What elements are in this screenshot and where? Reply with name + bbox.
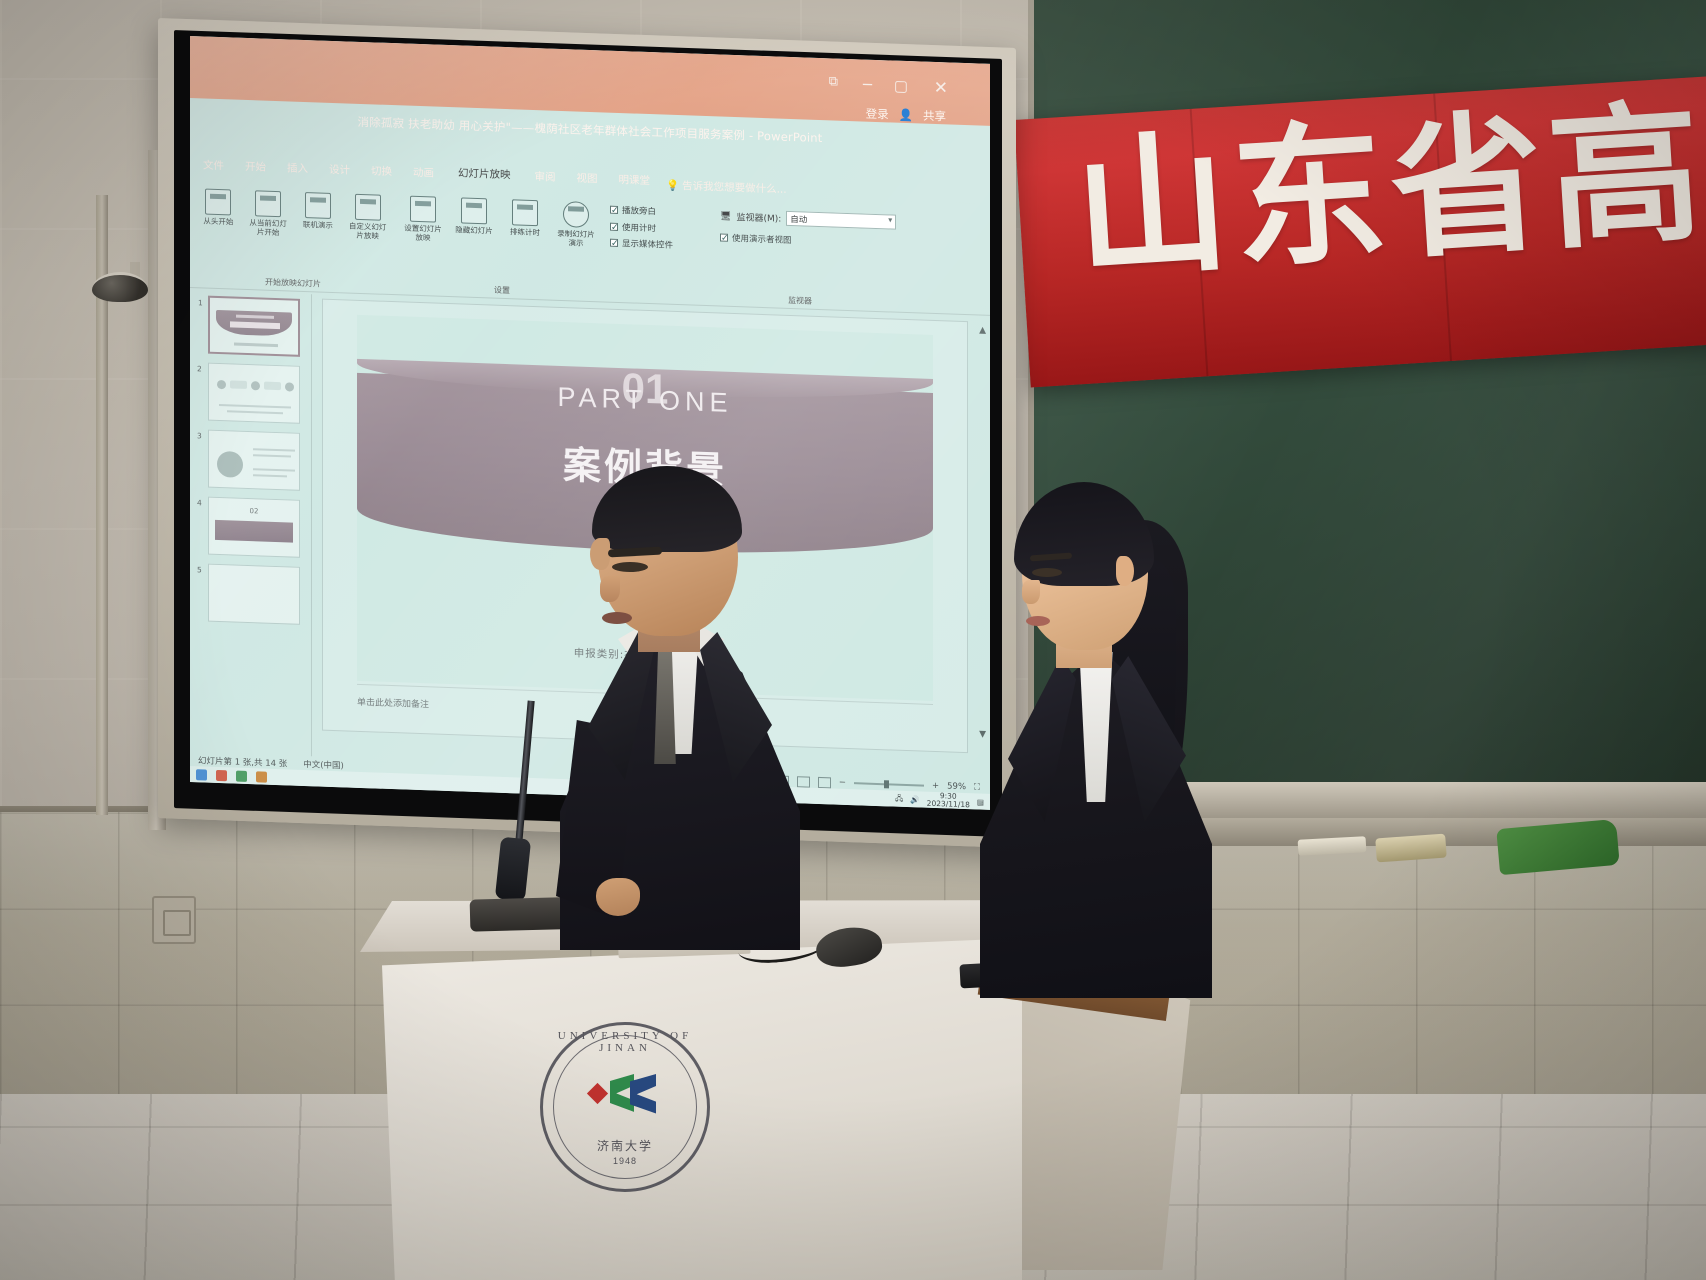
restore-icon[interactable]: ⧉ bbox=[829, 74, 838, 89]
fit-to-window-icon[interactable]: ⛶ bbox=[974, 782, 980, 792]
checkbox-icon bbox=[610, 239, 618, 247]
logo-text-chinese: 济南大学 bbox=[540, 1137, 710, 1154]
tab-file[interactable]: 文件 bbox=[198, 154, 229, 177]
female-eye bbox=[1032, 568, 1062, 577]
signin-label[interactable]: 登录 bbox=[866, 106, 889, 123]
projector-screen[interactable]: ⧉ ─ ▢ ✕ 登录 👤 共享 消除孤寂 扶老助幼 用心关护"——槐荫社区老年群… bbox=[190, 36, 990, 810]
male-eye bbox=[612, 562, 648, 572]
present-online-button[interactable]: 联机演示 bbox=[298, 192, 339, 240]
play-from-current-icon bbox=[255, 190, 281, 217]
thumbnail-number: 1 bbox=[198, 298, 203, 307]
thumbnail-slide-3[interactable]: 3 bbox=[208, 430, 300, 491]
ribbon-group-start-show: 从头开始 从当前幻灯片开始 联机演示 自定义幻灯片放映 bbox=[198, 182, 388, 293]
thumbnail-slide-2[interactable]: 2 bbox=[208, 363, 300, 424]
close-icon[interactable]: ✕ bbox=[934, 78, 948, 98]
checkbox-presenter-view[interactable]: 使用演示者视图 bbox=[720, 231, 930, 255]
minimize-icon[interactable]: ─ bbox=[863, 76, 872, 94]
ribbon-group-title-setup: 设置 bbox=[402, 281, 602, 299]
record-slideshow-icon bbox=[563, 201, 589, 228]
scroll-up-icon[interactable]: ▲ bbox=[979, 326, 986, 336]
share-label[interactable]: 共享 bbox=[923, 108, 946, 125]
ribbon-group-monitors: 🖥 监视器(M): 自动 使用演示者视图 监视器 bbox=[720, 201, 930, 312]
volume-icon[interactable]: 🔊 bbox=[910, 795, 919, 804]
tab-insert[interactable]: 插入 bbox=[282, 157, 313, 180]
checkbox-icon bbox=[720, 234, 728, 242]
banner-text: 山东省高校 bbox=[1071, 91, 1706, 292]
play-from-current-button[interactable]: 从当前幻灯片开始 bbox=[248, 190, 289, 238]
hide-slide-icon bbox=[461, 197, 487, 224]
classroom-scene: 山东省高校 ⧉ ─ ▢ ✕ 登录 👤 共享 消除孤寂 扶老助幼 用心关护"——槐… bbox=[0, 0, 1706, 1280]
chalk-ledge bbox=[1190, 818, 1706, 846]
taskbar-app-icon[interactable] bbox=[236, 770, 247, 781]
logo-year: 1948 bbox=[540, 1156, 710, 1166]
zoom-slider[interactable] bbox=[854, 782, 924, 786]
hide-slide-button[interactable]: 隐藏幻灯片 bbox=[453, 197, 495, 248]
thumbnail-number: 5 bbox=[197, 565, 202, 574]
custom-slideshow-icon bbox=[355, 194, 381, 221]
account-area[interactable]: 登录 👤 共享 bbox=[866, 106, 946, 125]
university-logo: UNIVERSITY OF JINAN 济南大学 1948 bbox=[540, 1022, 710, 1192]
wall-outlet bbox=[152, 896, 196, 944]
ribbon-group-setup: 设置幻灯片放映 隐藏幻灯片 排练计时 录制幻灯片演示 bbox=[402, 189, 702, 303]
slide-thumbnail-panel[interactable]: 1 2 3 bbox=[194, 290, 312, 756]
female-nose bbox=[1022, 580, 1040, 604]
checkbox-icon bbox=[610, 222, 618, 230]
scroll-down-icon[interactable]: ▼ bbox=[979, 730, 986, 740]
tab-review[interactable]: 审阅 bbox=[530, 166, 561, 189]
red-banner: 山东省高校 bbox=[1014, 76, 1706, 387]
slideshow-view-icon[interactable] bbox=[818, 776, 831, 787]
male-mouth bbox=[602, 612, 632, 624]
male-hand bbox=[596, 878, 640, 916]
rehearse-timings-icon bbox=[512, 199, 538, 226]
thumbnail-slide-5[interactable]: 5 bbox=[208, 564, 300, 625]
lightbulb-icon: 💡 bbox=[666, 179, 679, 192]
setup-slideshow-icon bbox=[410, 196, 436, 223]
taskbar-app-icon[interactable] bbox=[196, 769, 207, 780]
logo-text-english: UNIVERSITY OF JINAN bbox=[540, 1030, 710, 1054]
zoom-out-button[interactable]: − bbox=[839, 778, 846, 788]
tab-animations[interactable]: 动画 bbox=[408, 162, 439, 185]
monitor-select[interactable]: 自动 bbox=[786, 211, 896, 230]
logo-mark-icon bbox=[590, 1070, 660, 1128]
tab-design[interactable]: 设计 bbox=[324, 159, 355, 182]
reading-view-icon[interactable] bbox=[797, 776, 810, 787]
rehearse-timings-button[interactable]: 排练计时 bbox=[504, 199, 546, 250]
thumbnail-number: 4 bbox=[197, 498, 202, 507]
tab-mingketang[interactable]: 明课堂 bbox=[614, 169, 656, 192]
taskbar-app-icon[interactable] bbox=[216, 769, 227, 780]
thumbnail-number: 2 bbox=[197, 364, 202, 373]
taskbar-app-icon[interactable] bbox=[256, 771, 267, 782]
blackboard-eraser bbox=[1375, 834, 1447, 863]
custom-slideshow-button[interactable]: 自定义幻灯片放映 bbox=[347, 193, 388, 241]
thumbnail-number: 3 bbox=[197, 431, 202, 440]
tab-home[interactable]: 开始 bbox=[240, 156, 271, 179]
checkbox-play-narration[interactable]: 播放旁白 bbox=[610, 203, 673, 222]
person-share-icon: 👤 bbox=[899, 108, 913, 123]
play-from-start-button[interactable]: 从头开始 bbox=[198, 188, 239, 236]
tab-transitions[interactable]: 切换 bbox=[366, 160, 397, 183]
network-icon[interactable]: 🖧 bbox=[895, 792, 903, 805]
ribbon-group-title-monitors: 监视器 bbox=[720, 293, 880, 310]
zoom-level[interactable]: 59% bbox=[947, 781, 966, 792]
powerpoint-window[interactable]: ⧉ ─ ▢ ✕ 登录 👤 共享 消除孤寂 扶老助幼 用心关护"——槐荫社区老年群… bbox=[190, 36, 990, 810]
male-ear bbox=[590, 538, 610, 570]
monitor-icon: 🖥 bbox=[720, 211, 731, 221]
checkbox-show-media-controls[interactable]: 显示媒体控件 bbox=[610, 236, 673, 255]
female-mouth bbox=[1026, 616, 1050, 626]
female-ear bbox=[1116, 556, 1134, 586]
thumbnail-slide-1[interactable]: 1 bbox=[208, 296, 300, 357]
monitor-label: 监视器(M): bbox=[736, 210, 781, 225]
checkbox-icon bbox=[610, 206, 618, 214]
clock-date: 2023/11/18 bbox=[927, 799, 970, 810]
taskbar-clock[interactable]: 9:30 2023/11/18 bbox=[927, 792, 970, 809]
play-from-start-icon bbox=[205, 189, 231, 216]
ribbon-group-title-start: 开始放映幻灯片 bbox=[198, 274, 388, 292]
thumbnail-slide-4[interactable]: 4 02 bbox=[208, 497, 300, 558]
present-online-icon bbox=[305, 192, 331, 219]
zoom-in-button[interactable]: + bbox=[932, 781, 939, 791]
monitor-select-row[interactable]: 🖥 监视器(M): 自动 bbox=[720, 209, 930, 231]
record-slideshow-button[interactable]: 录制幻灯片演示 bbox=[555, 201, 597, 252]
security-camera-icon bbox=[92, 262, 158, 302]
setup-slideshow-button[interactable]: 设置幻灯片放映 bbox=[402, 195, 444, 246]
notification-icon[interactable]: ▤ bbox=[977, 797, 984, 806]
tab-slideshow[interactable]: 幻灯片放映 bbox=[450, 161, 519, 187]
tab-view[interactable]: 视图 bbox=[572, 167, 603, 190]
male-nose bbox=[600, 576, 620, 602]
maximize-icon[interactable]: ▢ bbox=[894, 77, 908, 95]
